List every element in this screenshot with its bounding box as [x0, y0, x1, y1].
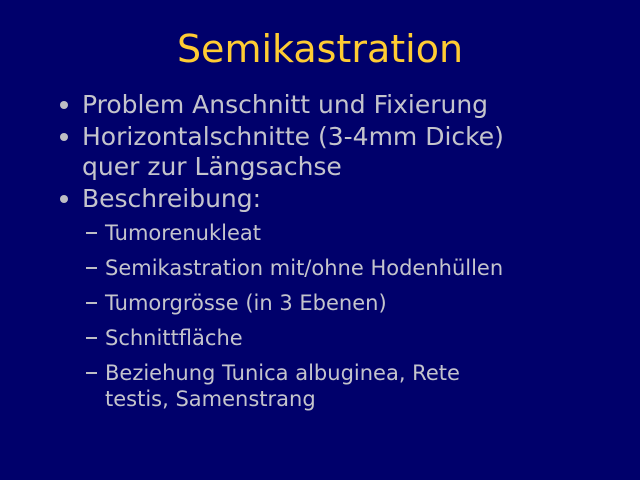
dash-icon: [86, 372, 97, 374]
sub-bullet-text-1: Tumorenukleat: [105, 220, 600, 246]
bullet-item-3: Beschreibung:: [0, 184, 640, 214]
bullet-text-2-line-1: Horizontalschnitte (3-4mm Dicke): [82, 122, 614, 152]
bullet-item-1: Problem Anschnitt und Fixierung: [0, 90, 640, 120]
dash-icon: [86, 232, 97, 234]
sub-bullet-item-5: Beziehung Tunica albuginea, Rete testis,…: [0, 360, 640, 412]
bullet-text-3: Beschreibung:: [82, 184, 614, 214]
round-bullet-icon: [60, 101, 68, 109]
round-bullet-icon: [60, 195, 68, 203]
sub-bullet-item-3: Tumorgrösse (in 3 Ebenen): [0, 290, 640, 316]
dash-icon: [86, 337, 97, 339]
slide-title: Semikastration: [0, 26, 640, 72]
sub-bullet-item-4: Schnittfläche: [0, 325, 640, 351]
sub-bullet-text-2: Semikastration mit/ohne Hodenhüllen: [105, 255, 600, 281]
bullet-item-2: Horizontalschnitte (3-4mm Dicke) quer zu…: [0, 122, 640, 182]
sub-bullet-text-5-line-1: Beziehung Tunica albuginea, Rete: [105, 360, 600, 386]
sub-bullet-text-5-line-2: testis, Samenstrang: [105, 386, 600, 412]
slide-body: Problem Anschnitt und Fixierung Horizont…: [0, 90, 640, 421]
round-bullet-icon: [60, 133, 68, 141]
bullet-text-2-line-2: quer zur Längsachse: [82, 152, 614, 182]
dash-icon: [86, 267, 97, 269]
sub-bullet-item-2: Semikastration mit/ohne Hodenhüllen: [0, 255, 640, 281]
sub-bullet-text-4: Schnittfläche: [105, 325, 600, 351]
sub-bullet-list: Tumorenukleat Semikastration mit/ohne Ho…: [0, 220, 640, 412]
presentation-slide: Semikastration Problem Anschnitt und Fix…: [0, 0, 640, 480]
sub-bullet-text-3: Tumorgrösse (in 3 Ebenen): [105, 290, 600, 316]
dash-icon: [86, 302, 97, 304]
sub-bullet-item-1: Tumorenukleat: [0, 220, 640, 246]
bullet-text-1: Problem Anschnitt und Fixierung: [82, 90, 614, 120]
